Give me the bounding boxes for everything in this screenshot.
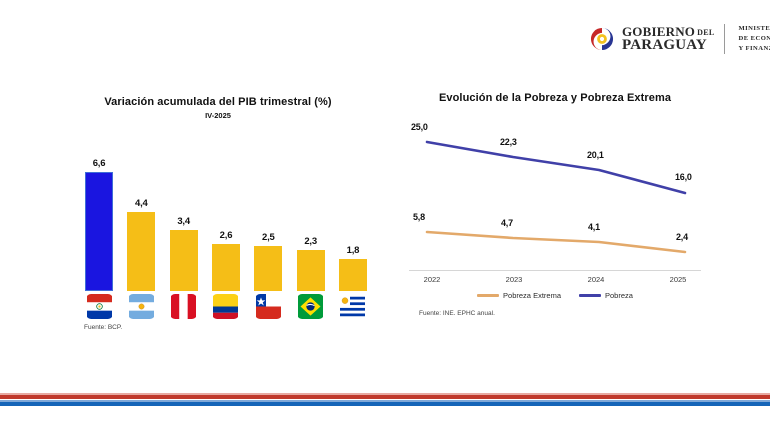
bar-rect-uruguay[interactable]	[339, 259, 367, 291]
flag-cell	[336, 294, 370, 319]
bar-rect-brasil[interactable]	[297, 250, 325, 291]
bar-column: 3,4	[167, 126, 201, 291]
x-tick-2024: 2024	[569, 275, 623, 284]
ministry-line-1: MINISTERIO	[738, 24, 770, 34]
footer-flag-stripes	[0, 393, 770, 406]
x-tick-2022: 2022	[405, 275, 459, 284]
pobreza-point-label-2025: 16,0	[675, 172, 692, 182]
bar-rect-colombia[interactable]	[212, 244, 240, 291]
bar-chart-plot-area: 6,6 4,4 3,4 2,6 2,5 2,3 1,8	[82, 126, 370, 291]
pobreza-series-line	[427, 142, 685, 193]
peru-flag-icon	[170, 294, 197, 319]
line-chart-x-axis-rule	[409, 270, 701, 271]
bar-chart-subtitle: IV-2025	[68, 111, 368, 120]
line-chart-legend: Pobreza Extrema Pobreza	[405, 291, 705, 300]
bar-chart-title: Variación acumulada del PIB trimestral (…	[68, 96, 368, 108]
flag-cell	[209, 294, 243, 319]
pobreza-point-label-2024: 20,1	[587, 150, 604, 160]
bar-value-label: 3,4	[177, 216, 190, 227]
bar-column: 1,8	[336, 126, 370, 291]
ministry-block: MINISTERIO DE ECONOMÍA Y FINANZAS	[738, 24, 770, 55]
pobreza-extrema-point-label-2025: 2,4	[676, 232, 688, 242]
bar-value-label: 1,8	[347, 245, 360, 256]
bar-value-label: 2,5	[262, 232, 275, 243]
bar-rect-paraguay[interactable]	[85, 172, 113, 291]
argentina-flag-icon	[128, 294, 155, 319]
legend-label: Pobreza Extrema	[503, 291, 561, 300]
flag-cell	[124, 294, 158, 319]
legend-item-pobreza-extrema[interactable]: Pobreza Extrema	[477, 291, 561, 300]
pobreza-extrema-point-label-2023: 4,7	[501, 218, 513, 228]
bar-column: 4,4	[124, 126, 158, 291]
legend-swatch-icon	[579, 294, 601, 297]
line-chart-x-axis-labels: 2022 2023 2024 2025	[405, 275, 705, 284]
government-brand-logo: GOBIERNODEL PARAGUAY MINISTERIO DE ECONO…	[589, 20, 770, 58]
ministry-line-3: Y FINANZAS	[738, 44, 770, 54]
brand-line-gobierno: GOBIERNODEL	[622, 25, 714, 38]
brand-divider	[724, 24, 725, 54]
x-tick-2023: 2023	[487, 275, 541, 284]
brazil-flag-icon	[297, 294, 324, 319]
brand-wordmark: GOBIERNODEL PARAGUAY	[622, 25, 714, 54]
legend-item-pobreza[interactable]: Pobreza	[579, 291, 633, 300]
brand-del-text: DEL	[697, 28, 714, 37]
flag-cell	[294, 294, 328, 319]
bar-value-label: 4,4	[135, 198, 148, 209]
bar-rect-peru[interactable]	[170, 230, 198, 291]
flag-cell	[167, 294, 201, 319]
paraguay-government-emblem-icon	[589, 26, 615, 52]
bar-rect-chile[interactable]	[254, 246, 282, 291]
gdp-bar-chart: Variación acumulada del PIB trimestral (…	[60, 96, 380, 326]
bar-column: 6,6	[82, 126, 116, 291]
poverty-line-chart: Evolución de la Pobreza y Pobreza Extrem…	[405, 92, 710, 327]
bar-column: 2,3	[294, 126, 328, 291]
bar-rect-argentina[interactable]	[127, 212, 155, 291]
flag-cell	[251, 294, 285, 319]
stripe-blue	[0, 402, 770, 406]
bar-value-label: 2,6	[220, 230, 233, 241]
flag-cell	[82, 294, 116, 319]
bar-column: 2,6	[209, 126, 243, 291]
uruguay-flag-icon	[339, 294, 366, 319]
bar-chart-heading: Variación acumulada del PIB trimestral (…	[68, 96, 368, 120]
pobreza-extrema-point-label-2022: 5,8	[413, 212, 425, 222]
pobreza-point-label-2023: 22,3	[500, 137, 517, 147]
x-tick-2025: 2025	[651, 275, 705, 284]
line-chart-title: Evolución de la Pobreza y Pobreza Extrem…	[405, 92, 705, 104]
brand-line-paraguay: PARAGUAY	[622, 38, 714, 53]
pobreza-point-label-2022: 25,0	[411, 122, 428, 132]
ministry-line-2: DE ECONOMÍA	[738, 34, 770, 44]
chile-flag-icon	[255, 294, 282, 319]
pobreza-extrema-point-label-2024: 4,1	[588, 222, 600, 232]
bar-column: 2,5	[251, 126, 285, 291]
bar-value-label: 6,6	[93, 158, 106, 169]
bar-chart-flag-axis	[82, 294, 370, 319]
bar-value-label: 2,3	[304, 236, 317, 247]
legend-swatch-icon	[477, 294, 499, 297]
colombia-flag-icon	[212, 294, 239, 319]
line-chart-plot-area: 25,0 22,3 20,1 16,0 5,8 4,7 4,1 2,4	[405, 118, 705, 270]
line-chart-source: Fuente: INE. EPHC anual.	[419, 310, 495, 317]
paraguay-flag-icon	[86, 294, 113, 319]
bar-chart-source: Fuente: BCP.	[84, 324, 122, 331]
legend-label: Pobreza	[605, 291, 633, 300]
pobreza-extrema-series-line	[427, 232, 685, 252]
